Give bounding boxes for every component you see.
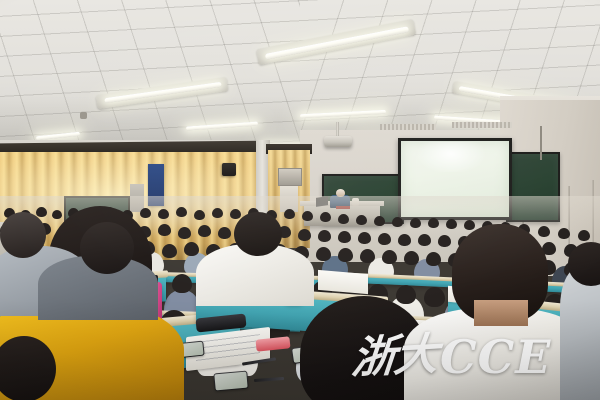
audience-head [338, 248, 353, 262]
audience-head [338, 214, 349, 224]
ceiling-vent-grille-left [380, 124, 436, 130]
audience-head [398, 234, 411, 246]
audience-head [360, 249, 375, 263]
audience-head [374, 216, 385, 226]
wall-loudspeaker [222, 163, 236, 176]
audience-head [162, 244, 177, 258]
audience-head [404, 251, 419, 265]
audience-head [410, 218, 421, 228]
ceiling-projector [324, 136, 352, 147]
screen-pull-cord [540, 126, 542, 160]
lecture-hall-photo: 浙大 CCE [0, 0, 600, 400]
audience-head [392, 217, 403, 227]
audience-head [158, 209, 169, 219]
audience-head [52, 210, 62, 219]
audience-head [176, 207, 187, 217]
audience-head [464, 220, 475, 230]
foreground-person-charcoal-shirt-head [80, 222, 134, 274]
audience-head [356, 215, 367, 225]
audience-head [424, 287, 445, 307]
audience-head [316, 247, 331, 261]
audience-head [184, 242, 199, 256]
audience-head [172, 274, 192, 293]
audience-head [428, 218, 439, 228]
ceiling-sensor-icon [80, 112, 87, 119]
projection-screen-hotspot [412, 142, 490, 172]
smartphone-screen [214, 372, 247, 391]
audience-head [212, 208, 223, 218]
foreground-person-white-shirt-right-neck [474, 300, 528, 326]
audience-head [140, 208, 151, 218]
foreground-person-white-shirt-center-head [234, 212, 282, 256]
audience-head [320, 212, 331, 222]
audience-head [358, 232, 371, 244]
air-conditioner-unit [278, 168, 302, 186]
ceiling-vent-grille-right [452, 122, 512, 128]
audience-head [298, 229, 311, 241]
audience-head [302, 211, 313, 221]
audience-head [338, 231, 351, 243]
handout-papers [318, 270, 368, 294]
audience-head [198, 225, 211, 237]
audience-head [378, 233, 391, 245]
audience-head [446, 219, 457, 229]
audience-head [396, 285, 416, 304]
audience-head [36, 207, 47, 217]
audience-head [382, 250, 397, 264]
audience-head [318, 230, 331, 242]
foreground-person-grey-shirt-head [0, 212, 46, 258]
audience-head [284, 209, 295, 219]
audience-head [158, 224, 171, 236]
audience-head [418, 234, 431, 246]
audience-head [218, 227, 231, 239]
audience-head [578, 230, 590, 241]
audience-head [230, 209, 241, 219]
audience-head [426, 252, 441, 266]
audience-head [194, 210, 205, 220]
audience-head [438, 235, 451, 247]
audience-head [538, 226, 550, 237]
audience-head [558, 228, 570, 239]
smartphone [213, 371, 248, 392]
foreground-person-right-edge [560, 268, 600, 400]
audience-head [178, 227, 191, 239]
